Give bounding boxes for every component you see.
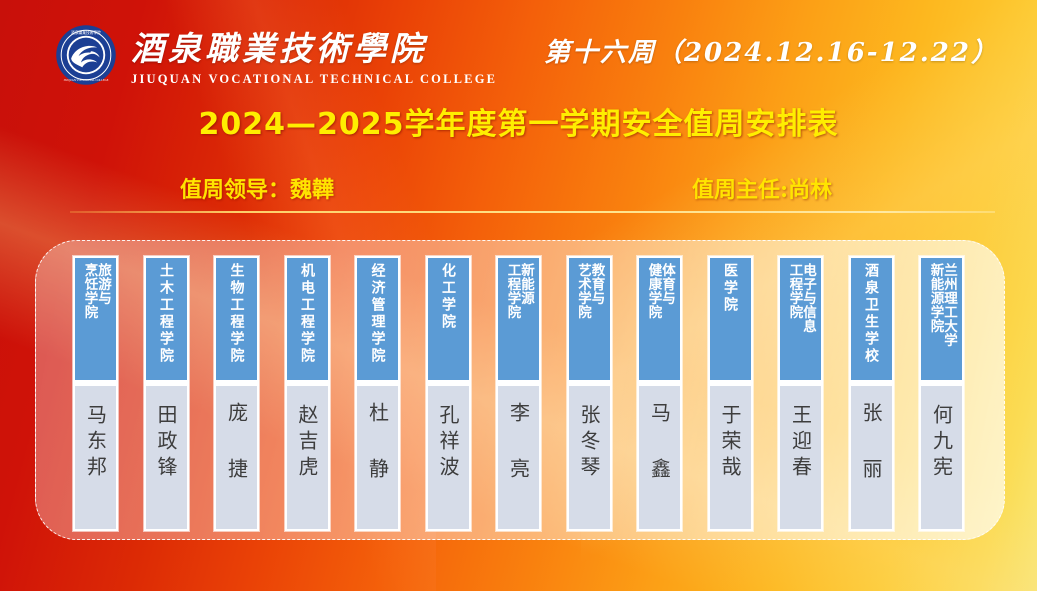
- department-card-body: 赵吉虎: [287, 386, 328, 529]
- department-card-body: 张冬琴: [569, 386, 610, 529]
- department-name-line: 医学院: [723, 263, 737, 314]
- duty-person-name: 何九宪: [932, 404, 952, 482]
- department-card[interactable]: 新能源工程学院李 亮: [496, 256, 541, 531]
- department-card-header: 生物工程学院: [216, 258, 257, 380]
- department-name-line: 生物工程学院: [230, 263, 244, 365]
- department-card-header: 教育与艺术学院: [569, 258, 610, 380]
- duty-person-name: 张冬琴: [579, 404, 599, 482]
- department-card-body: 庞 捷: [216, 386, 257, 529]
- department-card[interactable]: 体育与健康学院马 鑫: [637, 256, 682, 531]
- school-name-en: JIUQUAN VOCATIONAL TECHNICAL COLLEGE: [131, 72, 497, 87]
- department-card-header: 机电工程学院: [287, 258, 328, 380]
- svg-text:酒泉職業技術學院: 酒泉職業技術學院: [71, 29, 101, 34]
- department-card-header: 电子与信息工程学院: [780, 258, 821, 380]
- department-card[interactable]: 电子与信息工程学院王迎春: [778, 256, 823, 531]
- school-branding: 酒泉職業技術學院 JIUQUAN VOCATIONAL COLLEGE 酒泉職業…: [55, 22, 497, 87]
- department-card-body: 马东邦: [75, 386, 116, 529]
- department-name-line: 体育与: [660, 263, 674, 305]
- department-name-line: 教育与: [589, 263, 603, 305]
- duty-person-name: 赵吉虎: [297, 404, 317, 482]
- department-card-body: 张 丽: [851, 386, 892, 529]
- duty-person-name: 孔祥波: [438, 404, 458, 482]
- duty-person-name: 杜 静: [368, 402, 388, 484]
- duty-assignment-row: 值周领导：魏韡 值周主任:尚林: [0, 172, 1037, 204]
- department-name-line: 旅游与: [96, 263, 110, 305]
- department-card[interactable]: 经济管理学院杜 静: [355, 256, 400, 531]
- duty-person-name: 王迎春: [791, 404, 811, 482]
- department-card-body: 王迎春: [780, 386, 821, 529]
- department-name-line: 电子与信息: [801, 263, 815, 333]
- week-range-label: 第十六周（2024.12.16-12.22）: [544, 32, 999, 69]
- department-name-line: 新能源: [519, 263, 533, 305]
- department-card-header: 兰州理工大学新能源学院: [921, 258, 962, 380]
- department-card[interactable]: 化工学院孔祥波: [426, 256, 471, 531]
- department-name-line: 艺术学院: [576, 263, 590, 319]
- department-card[interactable]: 生物工程学院庞 捷: [214, 256, 259, 531]
- department-card-header: 新能源工程学院: [498, 258, 539, 380]
- department-card[interactable]: 酒泉卫生学校张 丽: [849, 256, 894, 531]
- department-card-header: 旅游与烹饪学院: [75, 258, 116, 380]
- department-name-line: 工程学院: [505, 263, 519, 319]
- svg-text:JIUQUAN VOCATIONAL COLLEGE: JIUQUAN VOCATIONAL COLLEGE: [64, 78, 109, 82]
- department-card-body: 于荣哉: [710, 386, 751, 529]
- department-name-line: 经济管理学院: [371, 263, 385, 365]
- department-card-list: 旅游与烹饪学院马东邦土木工程学院田政锋生物工程学院庞 捷机电工程学院赵吉虎经济管…: [36, 241, 1004, 539]
- gold-divider: [70, 211, 995, 213]
- department-name-line: 兰州理工大学: [942, 263, 956, 347]
- department-card-body: 何九宪: [921, 386, 962, 529]
- department-card-body: 孔祥波: [428, 386, 469, 529]
- department-name-line: 机电工程学院: [300, 263, 314, 365]
- department-card-header: 化工学院: [428, 258, 469, 380]
- school-name-cn: 酒泉職業技術學院: [131, 22, 497, 70]
- department-card[interactable]: 机电工程学院赵吉虎: [285, 256, 330, 531]
- department-name-line: 土木工程学院: [159, 263, 173, 365]
- duty-person-name: 庞 捷: [227, 402, 247, 484]
- department-card-header: 酒泉卫生学校: [851, 258, 892, 380]
- duty-person-name: 田政锋: [156, 404, 176, 482]
- department-card[interactable]: 兰州理工大学新能源学院何九宪: [919, 256, 964, 531]
- department-card-body: 田政锋: [146, 386, 187, 529]
- department-card-header: 医学院: [710, 258, 751, 380]
- duty-person-name: 马东邦: [86, 404, 106, 482]
- school-name-block: 酒泉職業技術學院 JIUQUAN VOCATIONAL TECHNICAL CO…: [131, 22, 497, 87]
- duty-person-name: 张 丽: [861, 402, 881, 484]
- department-name-line: 酒泉卫生学校: [864, 263, 878, 365]
- duty-person-name: 于荣哉: [720, 404, 740, 482]
- department-name-line: 新能源学院: [928, 263, 942, 333]
- department-name-line: 烹饪学院: [82, 263, 96, 319]
- schedule-panel: 旅游与烹饪学院马东邦土木工程学院田政锋生物工程学院庞 捷机电工程学院赵吉虎经济管…: [35, 240, 1005, 540]
- duty-director-label: 值周主任:尚林: [692, 172, 832, 204]
- duty-person-name: 李 亮: [509, 402, 529, 484]
- college-emblem-icon: 酒泉職業技術學院 JIUQUAN VOCATIONAL COLLEGE: [55, 24, 117, 86]
- department-card[interactable]: 土木工程学院田政锋: [144, 256, 189, 531]
- department-card[interactable]: 旅游与烹饪学院马东邦: [73, 256, 118, 531]
- department-card-header: 土木工程学院: [146, 258, 187, 380]
- duty-person-name: 马 鑫: [650, 402, 670, 484]
- department-card-body: 李 亮: [498, 386, 539, 529]
- page-title: 2024—2025学年度第一学期安全值周安排表: [0, 99, 1037, 143]
- department-name-line: 化工学院: [441, 263, 455, 331]
- department-name-line: 健康学院: [646, 263, 660, 319]
- department-card-header: 经济管理学院: [357, 258, 398, 380]
- department-card-body: 马 鑫: [639, 386, 680, 529]
- department-name-line: 工程学院: [787, 263, 801, 319]
- department-card-header: 体育与健康学院: [639, 258, 680, 380]
- department-card[interactable]: 医学院于荣哉: [708, 256, 753, 531]
- department-card-body: 杜 静: [357, 386, 398, 529]
- duty-leader-label: 值周领导：魏韡: [180, 172, 334, 204]
- department-card[interactable]: 教育与艺术学院张冬琴: [567, 256, 612, 531]
